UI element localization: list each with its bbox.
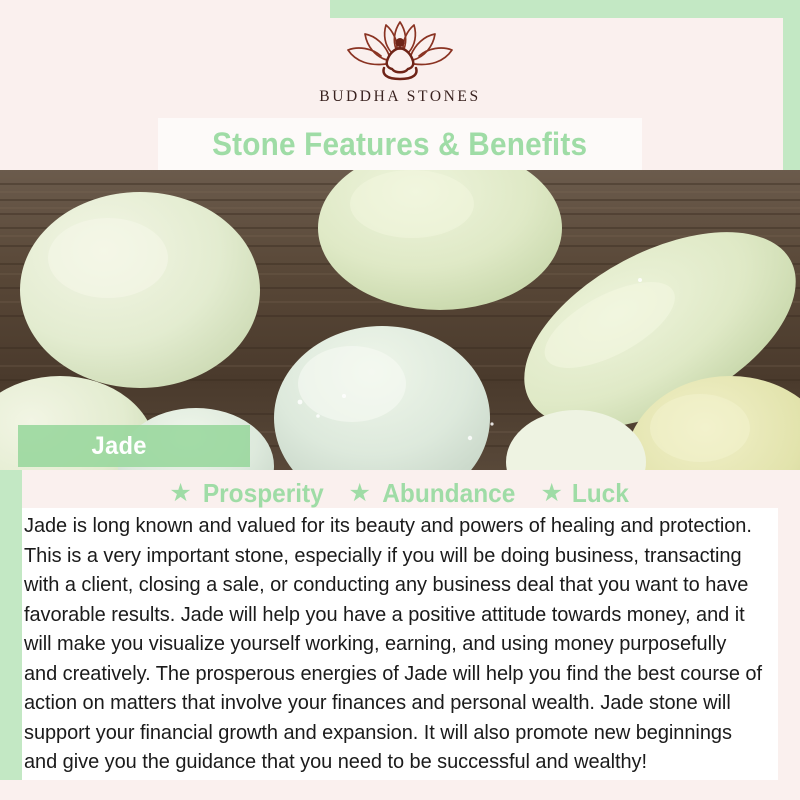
benefit-label: Luck — [572, 478, 629, 509]
benefit-label: Prosperity — [203, 478, 324, 509]
section-title-band: Stone Features & Benefits — [158, 118, 642, 170]
description-block: Jade is long known and valued for its be… — [22, 508, 778, 780]
brand-header: BUDDHA STONES — [0, 0, 800, 118]
brand-wordmark: BUDDHA STONES — [319, 88, 480, 106]
star-icon: ★ — [348, 481, 370, 506]
star-icon: ★ — [169, 481, 191, 506]
benefit-item: ★ Prosperity — [169, 478, 327, 509]
stone-name-band: Jade — [18, 425, 250, 467]
description-text: Jade is long known and valued for its be… — [24, 512, 763, 778]
poster-root: BUDDHA STONES Stone Features & Benefits — [0, 0, 800, 800]
benefit-item: ★ Luck — [540, 478, 630, 509]
lotus-meditation-icon — [334, 18, 466, 84]
benefit-item: ★ Abundance — [348, 478, 519, 509]
stone-name-label: Jade — [91, 432, 146, 461]
benefits-row: ★ Prosperity ★ Abundance ★ Luck — [0, 478, 800, 509]
star-icon: ★ — [540, 481, 562, 506]
page-title: Stone Features & Benefits — [212, 126, 587, 163]
benefit-label: Abundance — [382, 478, 515, 509]
